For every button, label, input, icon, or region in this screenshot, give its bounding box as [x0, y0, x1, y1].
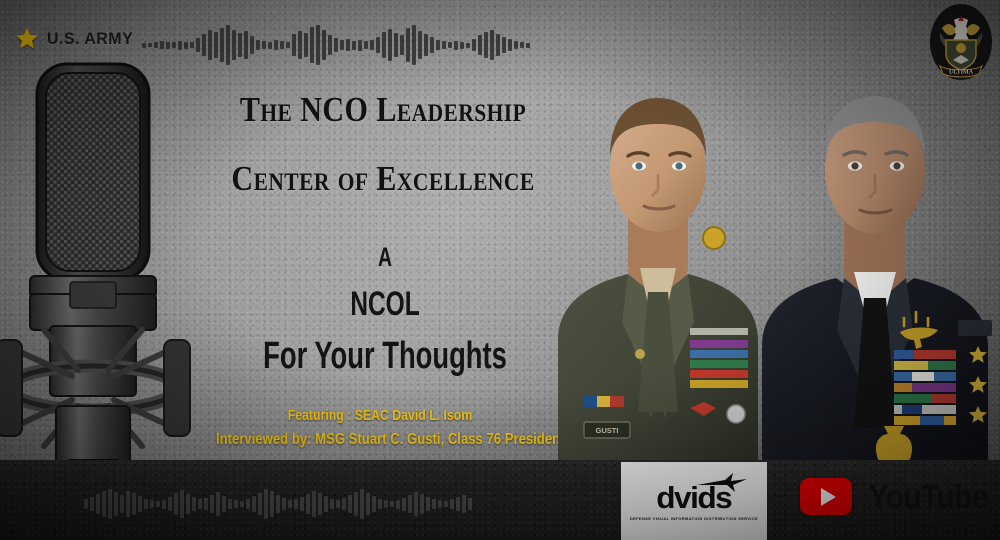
credit-interviewer: Interviewed by: MSG Stuart C. Gusti, Cla…: [216, 432, 544, 448]
youtube-play-icon: [800, 478, 852, 515]
ncoloe-crest-icon: ULTIMA: [930, 4, 992, 80]
headline-line-1: The NCO Leadership: [215, 92, 550, 127]
podcast-title-card: U.S. ARMY ULTIMA: [0, 0, 1000, 540]
page-title: The NCO Leadership Center of Excellence: [188, 92, 578, 196]
credit-featuring: Featuring : SEAC David L. Isom: [216, 408, 544, 423]
youtube-logo[interactable]: YouTube: [800, 478, 995, 515]
us-army-label: U.S. ARMY: [47, 29, 133, 49]
subtitle-line-3: For Your Thoughts: [259, 337, 511, 375]
name-tape-gusti: GUSTI: [596, 426, 619, 435]
dvids-wordmark: dvids: [657, 482, 732, 513]
subtitle-line-2: NCOL: [259, 287, 511, 321]
studio-microphone-icon: [0, 58, 209, 528]
headline-line-2: Center of Excellence: [215, 161, 550, 196]
credits: Featuring : SEAC David L. Isom Interview…: [180, 408, 580, 448]
youtube-wordmark: YouTube: [869, 480, 988, 513]
dvids-tagline: DEFENSE VISUAL INFORMATION DISTRIBUTION …: [630, 516, 758, 521]
subtitle-line-1: A: [259, 244, 511, 271]
dvids-logo[interactable]: dvids DEFENSE VISUAL INFORMATION DISTRIB…: [621, 462, 767, 540]
audio-waveform-top: [142, 20, 912, 70]
audio-waveform-bottom: [84, 482, 554, 526]
army-star-icon: [14, 26, 40, 52]
show-name: A NCOL For Your Thoughts: [210, 244, 560, 375]
us-army-lockup: U.S. ARMY: [14, 26, 139, 52]
